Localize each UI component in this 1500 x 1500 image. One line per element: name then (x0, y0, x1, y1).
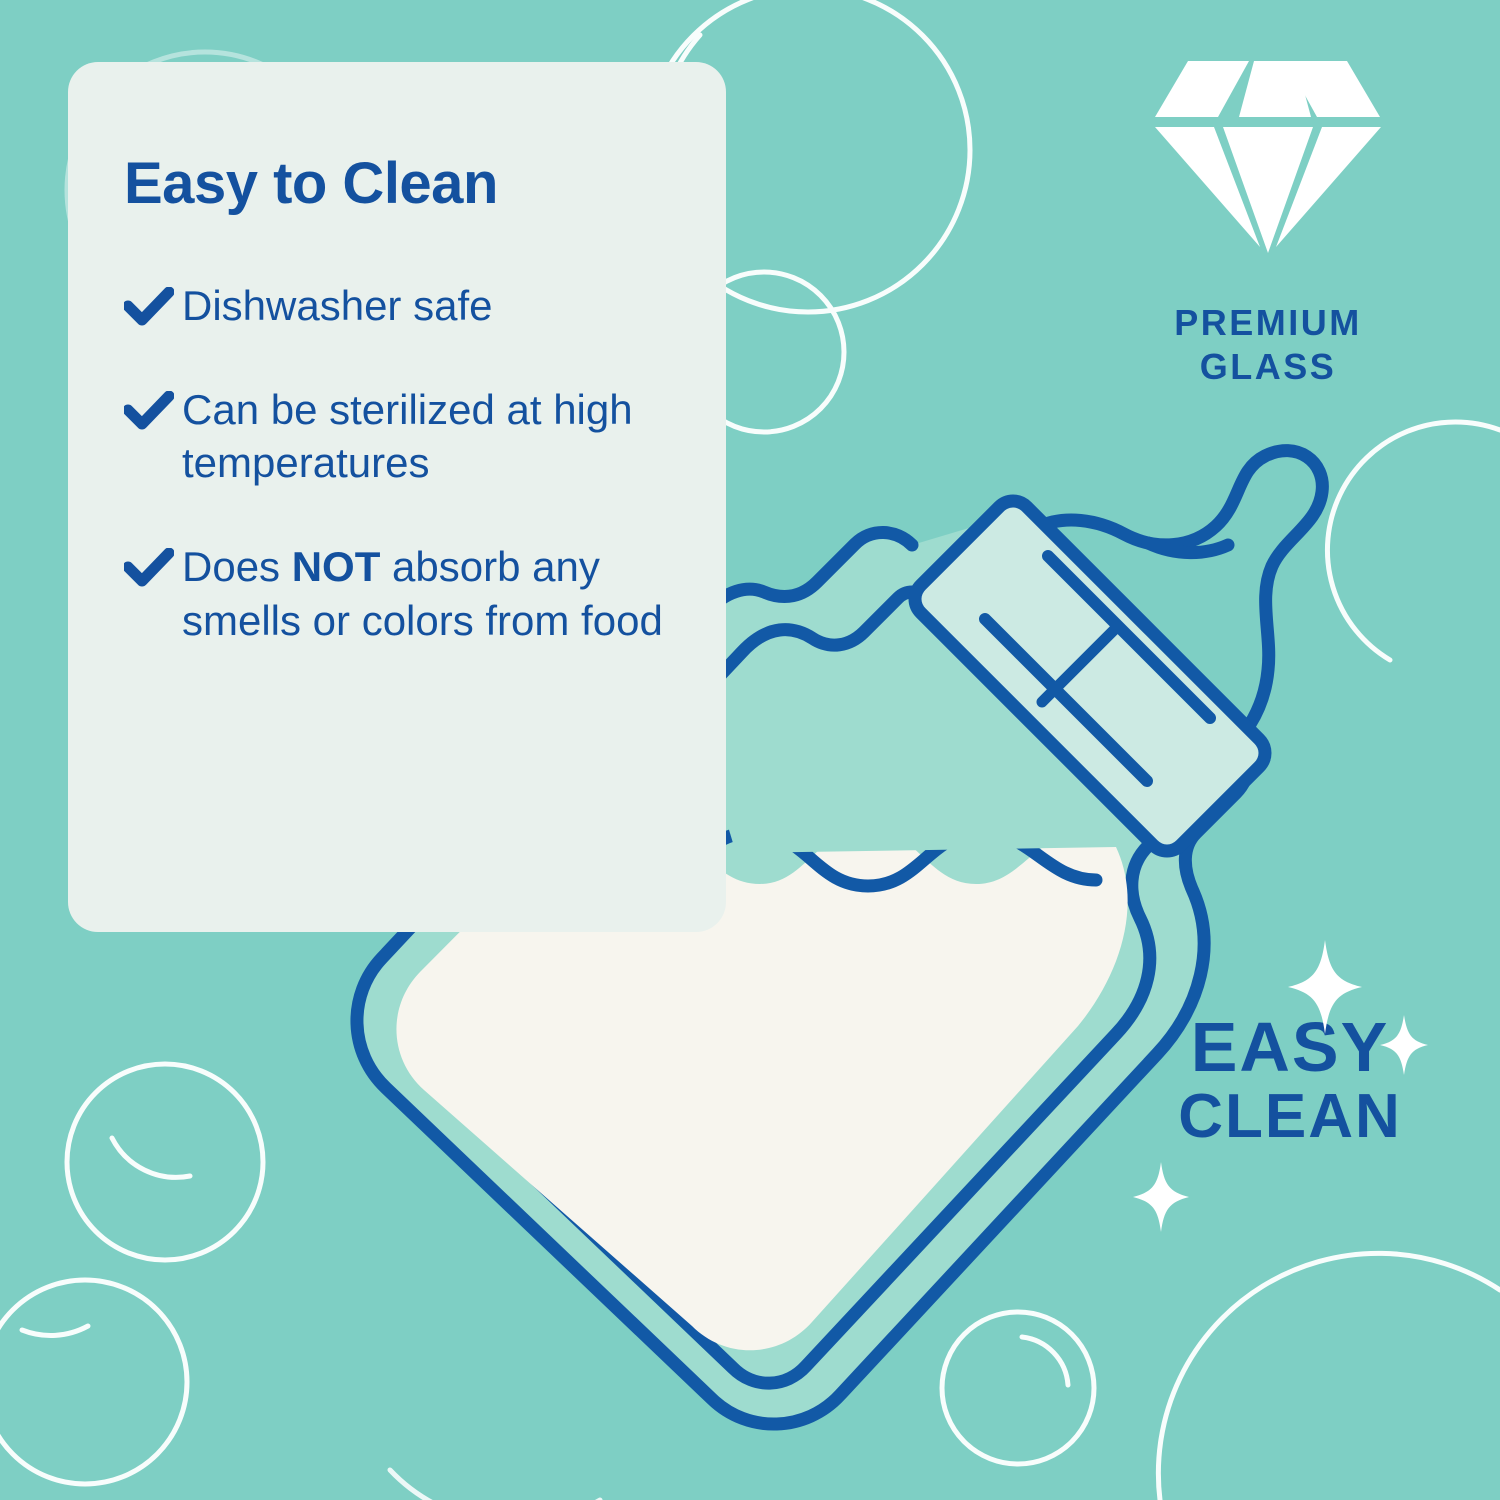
check-icon (124, 287, 182, 327)
check-icon (124, 391, 182, 431)
diamond-gem-icon (1152, 55, 1384, 283)
feature-item-dishwasher: Dishwasher safe (124, 279, 686, 333)
page-title: Easy to Clean (124, 154, 686, 215)
feature-item-sterilize: Can be sterilized at high temperatures (124, 383, 686, 491)
premium-glass-badge: PREMIUM GLASS (1118, 55, 1418, 389)
product-infographic: Easy to Clean Dishwasher safe Can be ste… (0, 0, 1500, 1500)
sparkle-star-icon (1133, 1162, 1189, 1232)
feature-label: Can be sterilized at high temperatures (182, 383, 686, 491)
emphasis-not: NOT (292, 543, 381, 590)
premium-glass-label: PREMIUM GLASS (1118, 301, 1418, 389)
feature-item-no-absorb: Does NOT absorb any smells or colors fro… (124, 540, 686, 648)
sparkle-star-icon (1380, 1015, 1428, 1075)
easy-clean-line2: CLEAN (1140, 1082, 1440, 1151)
sparkle-star-icon (1288, 940, 1362, 1034)
easy-clean-badge: EASY CLEAN (1140, 1012, 1440, 1151)
check-icon (124, 548, 182, 588)
feature-card: Easy to Clean Dishwasher safe Can be ste… (68, 62, 726, 932)
feature-label: Dishwasher safe (182, 279, 492, 333)
feature-label: Does NOT absorb any smells or colors fro… (182, 540, 686, 648)
